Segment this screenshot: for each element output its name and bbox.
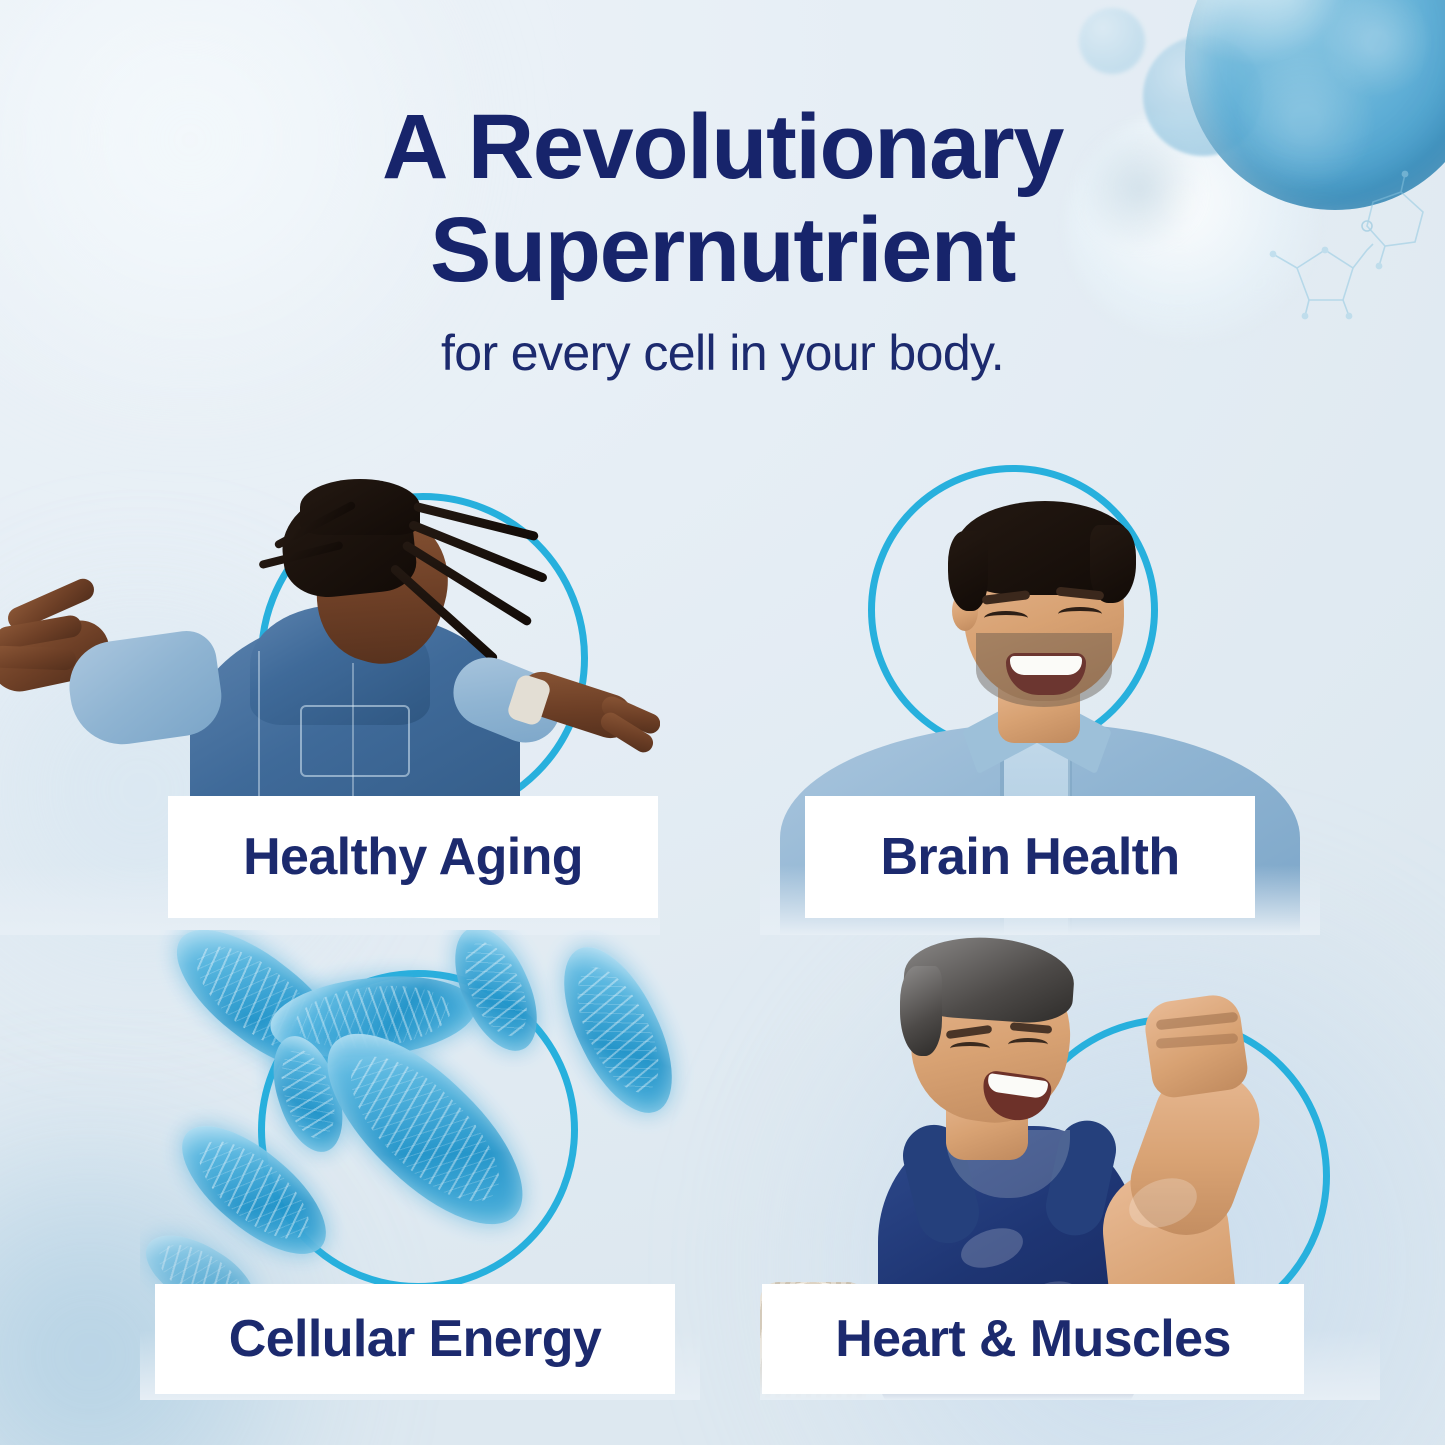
benefit-label-text: Healthy Aging [243,827,583,887]
mitochondrion-icon [543,932,694,1129]
page-title: A Revolutionary Supernutrient [0,96,1445,302]
benefit-label-text: Brain Health [880,827,1179,887]
poster-canvas: A Revolutionary Supernutrient for every … [0,0,1445,1445]
benefit-label-heart-muscles[interactable]: Heart & Muscles [762,1284,1304,1394]
subheadline: for every cell in your body. [0,324,1445,382]
headline-line-2: Supernutrient [430,199,1015,301]
cell-sphere-small-icon [1079,8,1145,74]
benefit-label-text: Cellular Energy [229,1309,601,1369]
benefit-label-text: Heart & Muscles [835,1309,1231,1369]
benefit-label-healthy-aging[interactable]: Healthy Aging [168,796,658,918]
headline-block: A Revolutionary Supernutrient for every … [0,96,1445,382]
benefit-label-cellular-energy[interactable]: Cellular Energy [155,1284,675,1394]
benefit-label-brain-health[interactable]: Brain Health [805,796,1255,918]
headline-line-1: A Revolutionary [382,96,1063,198]
